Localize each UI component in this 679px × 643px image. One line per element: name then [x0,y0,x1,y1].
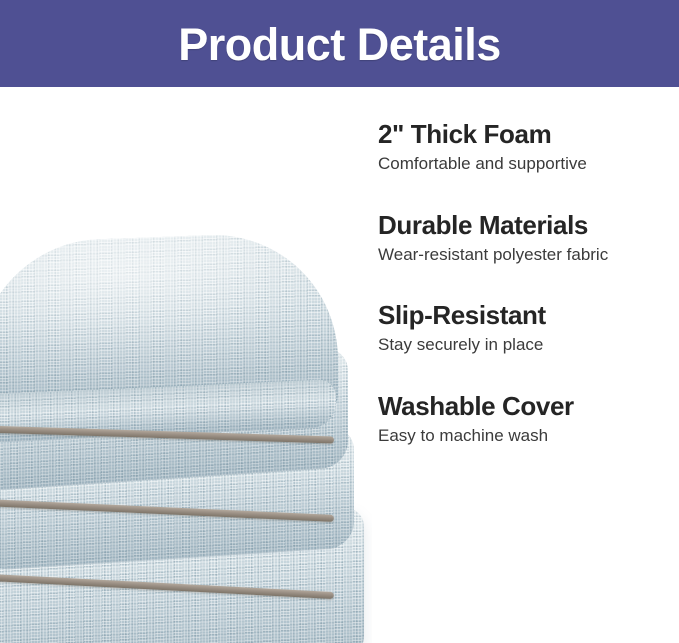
feature-item-thick-foam: 2" Thick Foam Comfortable and supportive [378,120,673,175]
feature-title: Washable Cover [378,392,673,421]
feature-title: Durable Materials [378,211,673,240]
product-details-infographic: Product Details [0,0,679,643]
header-banner: Product Details [0,0,679,87]
page-title: Product Details [178,22,501,67]
feature-list: 2" Thick Foam Comfortable and supportive… [378,120,673,482]
feature-item-durable-materials: Durable Materials Wear-resistant polyest… [378,211,673,266]
product-photo [0,87,372,643]
feature-description: Comfortable and supportive [378,154,673,174]
feature-item-slip-resistant: Slip-Resistant Stay securely in place [378,301,673,356]
feature-item-washable-cover: Washable Cover Easy to machine wash [378,392,673,447]
feature-description: Easy to machine wash [378,426,673,446]
feature-title: 2" Thick Foam [378,120,673,149]
feature-description: Wear-resistant polyester fabric [378,245,673,265]
cushion-stack-image [0,87,372,643]
feature-title: Slip-Resistant [378,301,673,330]
feature-description: Stay securely in place [378,335,673,355]
